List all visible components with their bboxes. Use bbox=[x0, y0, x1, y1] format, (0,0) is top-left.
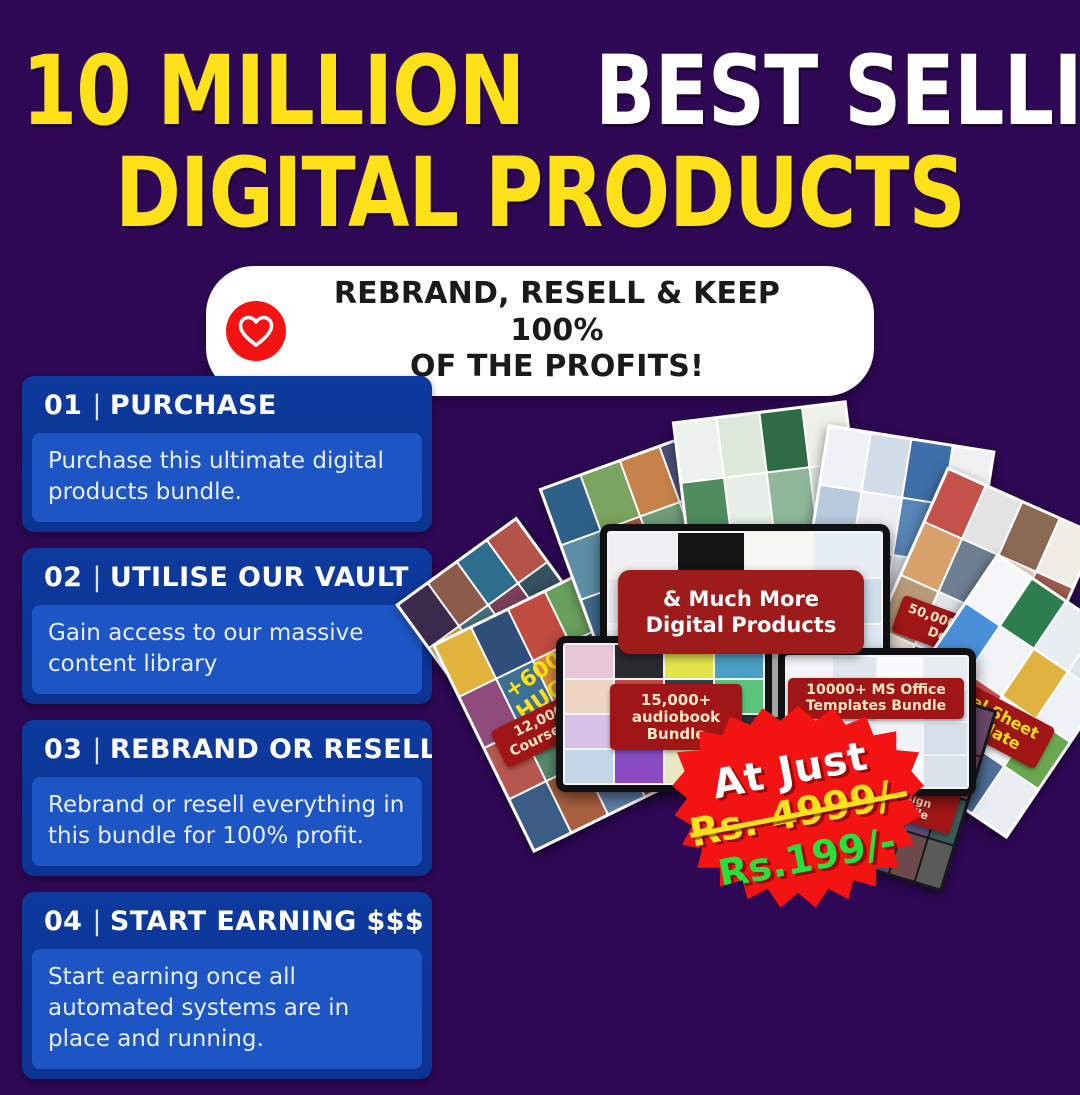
page-title: 10 MILLIONBEST SELLING DIGITAL PRODUCTS bbox=[0, 0, 1080, 240]
headline-best-selling: BEST SELLING bbox=[595, 44, 1080, 138]
step-card-03-title: REBRAND OR RESELL bbox=[110, 734, 432, 765]
collage-center-label-line-1: & Much More bbox=[663, 586, 819, 612]
step-card-04-title: START EARNING $$$ bbox=[110, 906, 424, 937]
subtitle-line-2: OF THE PROFITS! bbox=[410, 349, 704, 384]
headline-line-2: DIGITAL PRODUCTS bbox=[0, 146, 1080, 240]
step-card-02-title: UTILISE OUR VAULT bbox=[110, 562, 409, 593]
collage-center-label: & Much More Digital Products bbox=[618, 570, 864, 654]
step-card-01-title: PURCHASE bbox=[110, 390, 277, 421]
step-card-02-number: 02 bbox=[44, 562, 82, 593]
step-card-02-separator: | bbox=[92, 562, 102, 593]
subtitle-line-1: REBRAND, RESELL & KEEP 100% bbox=[334, 276, 780, 348]
step-card-04-number: 04 bbox=[44, 906, 82, 937]
step-card-04[interactable]: 04|START EARNING $$$ Start earning once … bbox=[22, 892, 432, 1079]
step-card-01-description: Purchase this ultimate digital products … bbox=[32, 433, 422, 522]
headline-digital-products: DIGITAL PRODUCTS bbox=[115, 146, 965, 240]
step-card-03-header: 03|REBRAND OR RESELL bbox=[22, 720, 432, 777]
collage-center-label-line-2: Digital Products bbox=[646, 612, 837, 638]
collage-ribbon-ms-office: 10000+ MS Office Templates Bundle bbox=[788, 678, 964, 719]
step-card-02-description: Gain access to our massive content libra… bbox=[32, 605, 422, 694]
step-card-01[interactable]: 01|PURCHASE Purchase this ultimate digit… bbox=[22, 376, 432, 532]
subtitle-text: REBRAND, RESELL & KEEP 100% OF THE PROFI… bbox=[300, 276, 848, 386]
heart-icon bbox=[226, 301, 286, 361]
headline-line-1: 10 MILLIONBEST SELLING bbox=[0, 44, 1080, 138]
step-card-01-separator: | bbox=[92, 390, 102, 421]
step-card-04-header: 04|START EARNING $$$ bbox=[22, 892, 432, 949]
step-card-02-header: 02|UTILISE OUR VAULT bbox=[22, 548, 432, 605]
headline-million: 10 MILLION bbox=[22, 44, 524, 138]
steps-list: 01|PURCHASE Purchase this ultimate digit… bbox=[22, 376, 432, 1095]
step-card-03-separator: | bbox=[92, 734, 102, 765]
step-card-04-description: Start earning once all automated systems… bbox=[32, 949, 422, 1069]
step-card-03-number: 03 bbox=[44, 734, 82, 765]
step-card-04-separator: | bbox=[92, 906, 102, 937]
step-card-01-header: 01|PURCHASE bbox=[22, 376, 432, 433]
step-card-03[interactable]: 03|REBRAND OR RESELL Rebrand or resell e… bbox=[22, 720, 432, 876]
step-card-03-description: Rebrand or resell everything in this bun… bbox=[32, 777, 422, 866]
step-card-02[interactable]: 02|UTILISE OUR VAULT Gain access to our … bbox=[22, 548, 432, 704]
step-card-01-number: 01 bbox=[44, 390, 82, 421]
